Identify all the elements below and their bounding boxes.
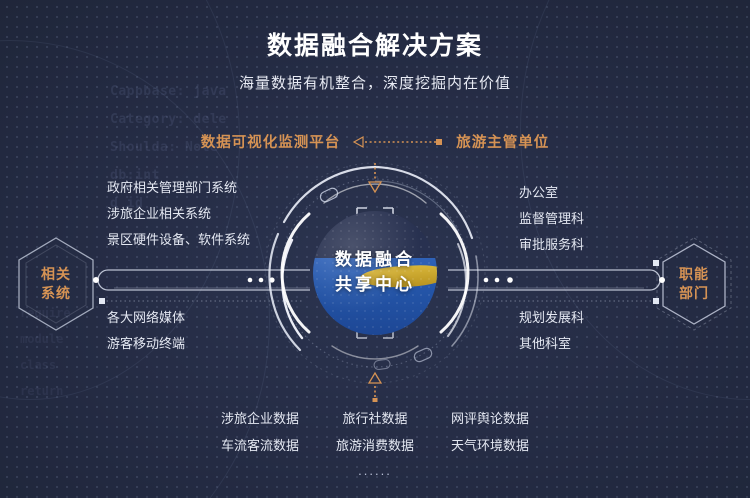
arrow-down-icon xyxy=(366,163,384,195)
left-sources-bottom-list: 各大网络媒体 游客移动终端 xyxy=(107,305,185,357)
left-sources-top-list: 政府相关管理部门系统 涉旅企业相关系统 景区硬件设备、软件系统 xyxy=(107,175,250,253)
hexagon-right-line1: 职能 xyxy=(679,265,709,284)
data-cell[interactable]: 涉旅企业数据 xyxy=(203,405,318,432)
list-item[interactable]: 办公室 xyxy=(519,180,558,206)
list-item[interactable]: 其他科室 xyxy=(519,331,571,357)
infographic-canvas: Cappbase: java Category: dele Shoulda: N… xyxy=(0,0,750,498)
list-item[interactable]: 规划发展科 xyxy=(519,305,584,331)
center-line2: 共享中心 xyxy=(335,272,415,297)
list-item[interactable]: 审批服务科 xyxy=(519,232,584,258)
code-line: return xyxy=(20,378,220,404)
hexagon-right-line2: 部门 xyxy=(679,284,709,303)
page-title: 数据融合解决方案 xyxy=(0,26,750,62)
data-cell[interactable]: 旅行社数据 xyxy=(318,405,433,432)
list-item[interactable]: 各大网络媒体 xyxy=(107,305,185,331)
list-item[interactable]: 涉旅企业相关系统 xyxy=(107,201,211,227)
data-cell[interactable]: 车流客流数据 xyxy=(203,432,318,459)
top-label-row: 数据可视化监测平台 旅游主管单位 xyxy=(0,131,750,152)
dotted-arrow-icon xyxy=(352,135,444,149)
center-line1: 数据融合 xyxy=(335,247,415,272)
hexagon-left-line1: 相关 xyxy=(41,265,71,284)
bottom-data-grid: 涉旅企业数据 旅行社数据 网评舆论数据 车流客流数据 旅游消费数据 天气环境数据… xyxy=(0,405,750,483)
data-cell[interactable]: 旅游消费数据 xyxy=(318,432,433,459)
label-tourism-authority[interactable]: 旅游主管单位 xyxy=(456,131,549,152)
page-subtitle: 海量数据有机整合，深度挖掘内在价值 xyxy=(0,72,750,93)
data-cell[interactable]: 网评舆论数据 xyxy=(433,405,548,432)
list-item[interactable]: 监督管理科 xyxy=(519,206,584,232)
data-grid-ellipsis: ...... xyxy=(358,459,392,483)
label-visualization-platform[interactable]: 数据可视化监测平台 xyxy=(201,131,341,152)
data-row: 车流客流数据 旅游消费数据 天气环境数据 xyxy=(203,432,548,459)
data-cell[interactable]: 天气环境数据 xyxy=(433,432,548,459)
arrow-up-icon xyxy=(366,370,384,402)
list-item[interactable]: 景区硬件设备、软件系统 xyxy=(107,227,250,253)
right-departments-top-list: 办公室 监督管理科 审批服务科 xyxy=(519,180,584,258)
right-departments-bottom-list: 规划发展科 其他科室 xyxy=(519,305,584,357)
list-item[interactable]: 政府相关管理部门系统 xyxy=(107,175,237,201)
hexagon-related-systems[interactable]: 相关 系统 xyxy=(14,235,98,333)
list-item[interactable]: 游客移动终端 xyxy=(107,331,185,357)
hexagon-left-line2: 系统 xyxy=(41,284,71,303)
data-row: 涉旅企业数据 旅行社数据 网评舆论数据 xyxy=(203,405,548,432)
code-line: Category: dele xyxy=(110,106,290,134)
